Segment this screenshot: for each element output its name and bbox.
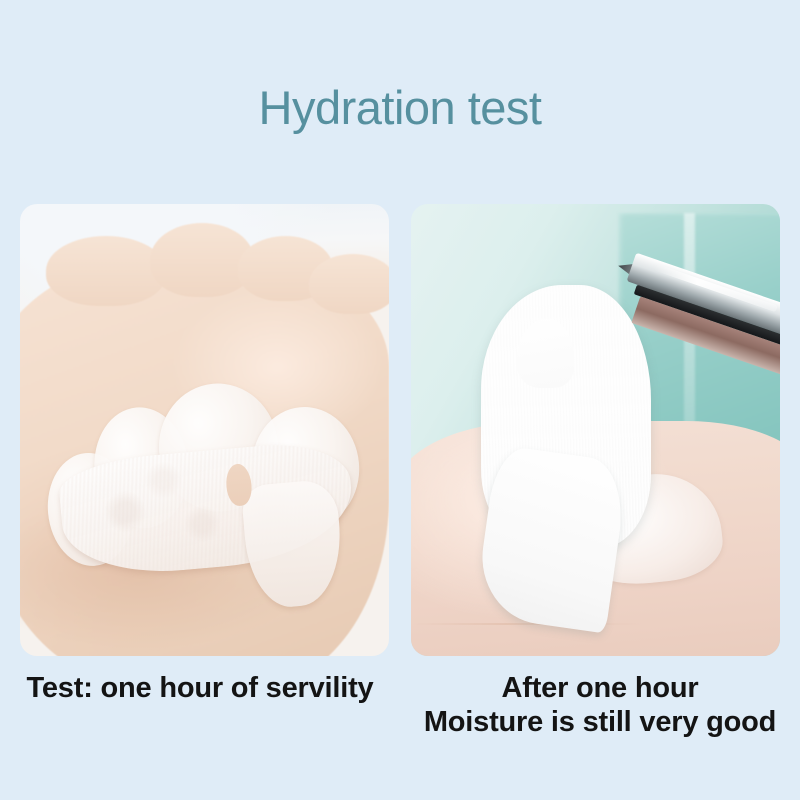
- knuckle: [309, 254, 389, 315]
- skin-crease: [413, 623, 644, 625]
- caption-line: After one hour: [502, 672, 699, 706]
- left-caption: Test: one hour of servility: [0, 668, 400, 800]
- patch-head: [517, 319, 575, 387]
- before-photo-panel: [20, 204, 389, 656]
- knuckle: [46, 236, 166, 305]
- caption-line: Test: one hour of servility: [27, 672, 374, 706]
- comparison-panels: [20, 204, 780, 656]
- page-title: Hydration test: [0, 82, 800, 135]
- right-caption: After one hour Moisture is still very go…: [400, 668, 800, 800]
- after-photo-panel: [411, 204, 780, 656]
- cloud-patch: [38, 371, 367, 592]
- caption-line: Moisture is still very good: [424, 706, 776, 740]
- knuckle: [150, 223, 254, 297]
- captions-row: Test: one hour of servility After one ho…: [0, 668, 800, 800]
